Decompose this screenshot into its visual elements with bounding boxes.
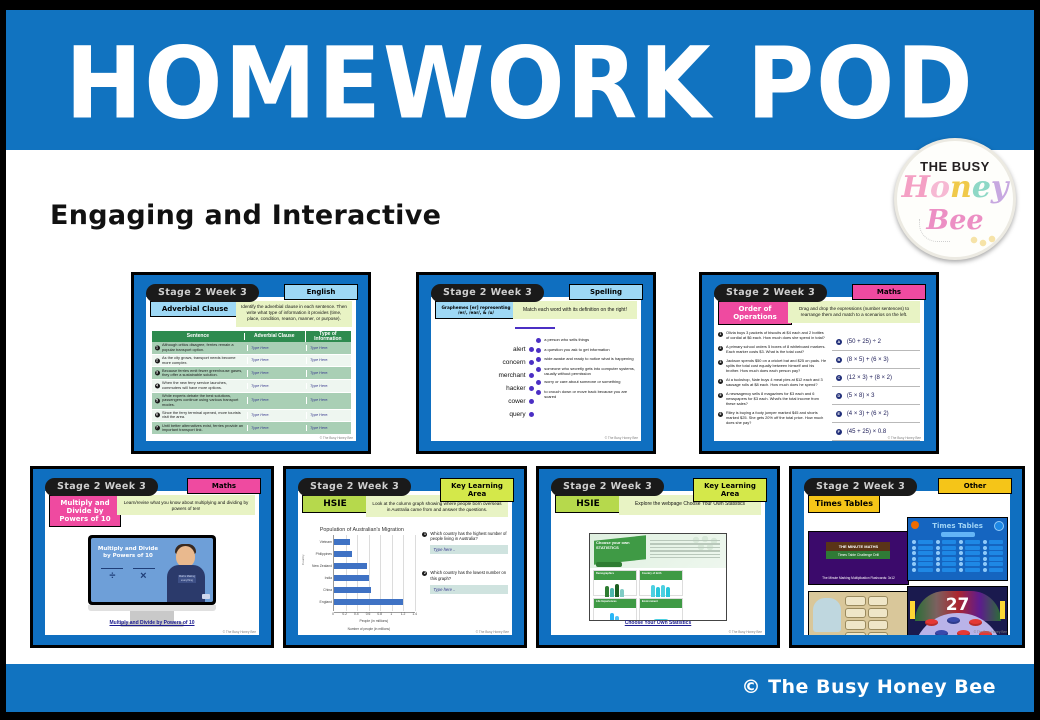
radio-icon[interactable]	[936, 568, 940, 572]
column-header-adverbial-clause: Adverbial Clause	[244, 333, 305, 340]
game-target-number: 27	[908, 595, 1007, 615]
slide-sheet: HSIE Look at the column graph showing wh…	[298, 491, 512, 635]
list-item: 2A primary school orders 5 boxes of 8 wh…	[718, 345, 827, 355]
x-tick: 1	[390, 612, 392, 616]
option-row[interactable]	[912, 546, 932, 550]
bullet-icon: 2	[718, 346, 723, 351]
logo-bee-text: Bee	[897, 205, 1013, 236]
tile-figures	[640, 580, 682, 598]
stage-week-pill: Stage 2 Week 3	[804, 478, 918, 496]
cell-sentence: 7Until better alternatives exist, ferrie…	[152, 423, 247, 434]
tile-figures	[594, 580, 636, 598]
draggable-expression[interactable]: E(4 × 3) + (6 × 2)	[832, 405, 920, 423]
card-inner: Stage 2 Week 3 Maths Multiply and Divide…	[37, 473, 267, 641]
slide-card-spelling[interactable]: Stage 2 Week 3 Spelling Graphemes [er] r…	[416, 272, 656, 454]
video-tile[interactable]: THE MINUTE MATHS Times Table Challenge D…	[808, 531, 909, 585]
web-tile-grid: Demographics Country of birth	[593, 570, 723, 621]
list-item[interactable]: to crouch down or move back because you …	[536, 389, 637, 399]
option-row[interactable]	[959, 540, 979, 544]
game-chip[interactable]	[957, 630, 970, 635]
cell-answer[interactable]: Type Here.	[247, 345, 306, 352]
bullet-icon: 4	[718, 379, 723, 384]
times-tables-right-column: Times Tables	[907, 517, 1006, 635]
option-row[interactable]	[936, 540, 956, 544]
instruction-text: Identify the adverbial clause in each se…	[236, 301, 352, 327]
footer-banner: © The Busy Honey Bee	[6, 664, 1034, 712]
stage-week-pill: Stage 2 Week 3	[431, 284, 545, 302]
radio-icon[interactable]	[936, 562, 940, 566]
option-column	[959, 540, 979, 574]
answer-card[interactable]	[845, 620, 866, 630]
radio-icon[interactable]	[983, 562, 987, 566]
brand-logo: THE BUSY Honey Bee	[894, 138, 1016, 260]
web-paragraph-lines	[650, 540, 720, 560]
slide-sheet: Multiply and Divide by Powers of 10 Lear…	[45, 491, 259, 635]
stage-week-pill: Stage 2 Week 3	[146, 284, 260, 302]
migration-bar-chart: Population of Australian's Migration Cou…	[303, 527, 421, 627]
list-item[interactable]: concern	[437, 356, 534, 369]
radio-icon[interactable]	[912, 551, 916, 555]
bullet-icon: C	[836, 375, 842, 381]
resource-link[interactable]: Multiply and Divide by Powers of 10	[45, 620, 259, 626]
divide-icon: ÷	[109, 570, 115, 582]
list-item[interactable]: a question you ask to get information	[536, 347, 637, 353]
list-item[interactable]: merchant	[437, 369, 534, 382]
page-title: HOMEWORK POD	[6, 14, 1034, 154]
video-sign: THE MINUTE MATHS Times Table Challenge D…	[826, 542, 890, 559]
option-row[interactable]	[983, 568, 1003, 572]
bar-label: Philippines	[316, 552, 332, 556]
option-row[interactable]	[936, 568, 956, 572]
option-row[interactable]	[959, 546, 979, 550]
cell-type[interactable]: Type Here.	[306, 370, 351, 377]
bullet-icon: D	[836, 393, 842, 399]
video-sign-sub: Times Table Challenge Drill	[826, 551, 890, 559]
table-header-row: Sentence Adverbial Clause Type of Inform…	[152, 331, 351, 342]
list-item[interactable]: query	[437, 408, 534, 421]
bullet-icon: 3	[718, 360, 723, 365]
list-item: 5A newsagency sells 8 magazines for $3 e…	[718, 392, 827, 406]
answer-card[interactable]	[868, 620, 889, 630]
match-dot-icon[interactable]	[536, 367, 541, 372]
list-item: 6Riley is buying a footy jumper marked $…	[718, 411, 827, 425]
cell-type[interactable]: Type Here.	[306, 357, 351, 364]
times-tables-left-column: THE MINUTE MATHS Times Table Challenge D…	[808, 531, 907, 635]
radio-icon[interactable]	[959, 540, 963, 544]
credit-text: © The Busy Honey Bee	[974, 630, 1007, 634]
bar-label: China	[323, 588, 332, 592]
radio-icon[interactable]	[936, 540, 940, 544]
match-dot-icon[interactable]	[536, 380, 541, 385]
instruction-text: Learn/revise what you know about multipl…	[117, 495, 255, 515]
logo-honeycomb-icon	[969, 235, 999, 249]
option-row[interactable]	[983, 540, 1003, 544]
match-dot-icon[interactable]	[536, 390, 541, 395]
match-dot-icon[interactable]	[529, 399, 534, 404]
radio-icon[interactable]	[936, 551, 940, 555]
settings-icon[interactable]	[994, 521, 1004, 531]
cell-answer[interactable]: Type Here.	[247, 412, 306, 419]
topic-label: Multiply and Divide by Powers of 10	[49, 495, 121, 527]
chart-ylabel: Country	[301, 554, 305, 565]
shirt-text: Maths Making everything	[178, 575, 196, 583]
slide-card-hsie-graph[interactable]: Stage 2 Week 3 Key Learning Area HSIE Lo…	[283, 466, 527, 648]
radio-icon[interactable]	[936, 557, 940, 561]
cell-answer[interactable]: Type Here.	[247, 425, 306, 432]
topic-label: Adverbial Clause	[150, 301, 240, 317]
adverbial-clause-table: Sentence Adverbial Clause Type of Inform…	[152, 331, 351, 435]
cell-sentence: 3Because ferries emit fewer greenhouse g…	[152, 368, 247, 379]
bullet-icon: F	[836, 429, 842, 435]
x-tick: 1.2	[401, 612, 406, 616]
cell-answer[interactable]: Type Here.	[247, 357, 306, 364]
subject-tag-kla: Key Learning Area	[440, 478, 514, 502]
bar-label: India	[325, 576, 332, 580]
slide-sheet: Order of Operations Drag and drop the ex…	[714, 297, 924, 441]
answer-card[interactable]	[868, 608, 889, 618]
bar-item: New Zealand	[334, 563, 415, 569]
list-item[interactable]: worry or care about someone or something	[536, 379, 637, 385]
tile-title: Life Experiences	[594, 599, 636, 608]
credit-text: © The Busy Honey Bee	[320, 436, 353, 440]
bullet-icon: 5	[718, 393, 723, 398]
topic-label: Times Tables	[808, 495, 880, 513]
radio-icon[interactable]	[983, 551, 987, 555]
option-row[interactable]	[912, 551, 932, 555]
cell-type[interactable]: Type Here.	[306, 425, 351, 432]
instruction-text: Match each word with its definition on t…	[513, 301, 637, 319]
match-dot-icon[interactable]	[529, 373, 534, 378]
answer-card[interactable]	[845, 632, 866, 635]
app-option-columns	[908, 537, 1007, 577]
cell-sentence: 4When the new ferry service launches, co…	[152, 380, 247, 391]
sphinx-icon	[813, 598, 841, 632]
bullet-icon: E	[836, 411, 842, 417]
x-tick: 0.2	[342, 612, 347, 616]
row-bullet-icon: 4	[155, 383, 160, 388]
radio-icon[interactable]	[983, 557, 987, 561]
resource-link[interactable]: Choose Your Own Statistics	[551, 620, 765, 626]
radio-icon[interactable]	[959, 557, 963, 561]
match-dot-icon[interactable]	[529, 360, 534, 365]
tile-title: Environment	[640, 599, 682, 608]
game-chip[interactable]	[925, 619, 938, 626]
spelling-word-list: alert concern merchant hacker cower quer…	[437, 343, 534, 421]
table-row[interactable]: 7Until better alternatives exist, ferrie…	[152, 422, 351, 435]
slide-sheet: Adverbial Clause Identify the adverbial …	[146, 297, 356, 441]
topic-label: Graphemes [er] representing /er/, /ear/,…	[435, 301, 517, 319]
answer-input[interactable]: Type here ..	[430, 585, 508, 594]
table-row[interactable]: 3Because ferries emit fewer greenhouse g…	[152, 367, 351, 380]
table-row[interactable]: 4When the new ferry service launches, co…	[152, 380, 351, 393]
list-item[interactable]: hacker	[437, 382, 534, 395]
option-row[interactable]	[936, 557, 956, 561]
row-bullet-icon: 7	[155, 426, 160, 431]
game-chip[interactable]	[935, 630, 948, 635]
webpage-screenshot[interactable]: Choose your own STATISTICS Demographics	[589, 533, 727, 621]
egypt-game-tile[interactable]	[808, 591, 909, 635]
list-item[interactable]: cower	[437, 395, 534, 408]
option-row[interactable]	[959, 557, 979, 561]
match-dot-icon[interactable]	[536, 357, 541, 362]
game-chip[interactable]	[947, 617, 960, 624]
bar-item: Vietnam	[334, 539, 415, 545]
list-item[interactable]: someone who secretly gets into computer …	[536, 366, 637, 376]
video-frame: Multiply and Divide by Powers of 10 ÷ ×	[91, 538, 213, 602]
stage-week-pill: Stage 2 Week 3	[551, 478, 665, 496]
list-item[interactable]: wide awake and ready to notice what is h…	[536, 356, 637, 362]
table-row[interactable]: 1Although critics disagree, ferries rema…	[152, 342, 351, 355]
chart-title: Population of Australian's Migration	[303, 527, 421, 533]
radio-icon[interactable]	[912, 568, 916, 572]
video-operators: ÷ ×	[97, 570, 159, 582]
monitor-screen: Multiply and Divide by Powers of 10 ÷ ×	[88, 535, 216, 605]
answer-card[interactable]	[845, 596, 866, 606]
bullet-icon: B	[836, 357, 842, 363]
radio-icon[interactable]	[983, 546, 987, 550]
bar-label: Vietnam	[320, 540, 332, 544]
x-tick: 0.6	[366, 612, 371, 616]
option-row[interactable]	[983, 562, 1003, 566]
topic-label: HSIE	[302, 495, 368, 513]
cell-answer[interactable]: Type Here.	[247, 383, 306, 390]
list-item: 4At a tuckshop, Nate buys 4 meat pies at…	[718, 378, 827, 388]
subtitle: Engaging and Interactive	[50, 200, 441, 231]
maths-scenario-list: 1Olivia buys 3 packets of biscuits at $4…	[718, 331, 827, 430]
body-shape: Maths Making everything	[167, 565, 205, 602]
chart-plot-area: Vietnam Philippines New Zealand Ind	[333, 535, 415, 611]
card-inner: Stage 2 Week 3 Key Learning Area HSIE Lo…	[290, 473, 520, 641]
slide-sheet: Times Tables THE MINUTE MATHS Times Tabl…	[804, 491, 1010, 635]
option-row[interactable]	[983, 557, 1003, 561]
cell-type[interactable]: Type Here.	[306, 397, 351, 404]
bullet-icon: 2	[422, 571, 427, 576]
cell-type[interactable]: Type Here.	[306, 412, 351, 419]
multiply-icon: ×	[140, 570, 146, 582]
option-row[interactable]	[912, 557, 932, 561]
cell-answer[interactable]: Type Here.	[247, 370, 306, 377]
radio-icon[interactable]	[959, 551, 963, 555]
option-column	[983, 540, 1003, 574]
list-item: 2Which country has the lowest number on …	[422, 570, 508, 580]
bar-item: England	[334, 599, 415, 605]
web-tile[interactable]: Environment	[639, 598, 683, 621]
card-inner: Stage 2 Week 3 Spelling Graphemes [er] r…	[423, 279, 649, 447]
subject-tag-other: Other	[938, 478, 1012, 494]
slide-sheet: Graphemes [er] representing /er/, /ear/,…	[431, 297, 641, 441]
bar-label: New Zealand	[312, 564, 332, 568]
header-banner: HOMEWORK POD	[6, 10, 1034, 150]
slide-sheet: HSIE Explore the webpage Choose Your Own…	[551, 491, 765, 635]
credit-text: © The Busy Honey Bee	[729, 630, 762, 634]
table-row[interactable]: 6Since the ferry terminal opened, more t…	[152, 410, 351, 423]
stage-week-pill: Stage 2 Week 3	[714, 284, 828, 302]
radio-icon[interactable]	[959, 568, 963, 572]
credit-text: © The Busy Honey Bee	[223, 630, 256, 634]
match-dot-icon[interactable]	[529, 386, 534, 391]
radio-icon[interactable]	[936, 546, 940, 550]
row-bullet-icon: 3	[155, 371, 160, 376]
slide-card-maths-order[interactable]: Stage 2 Week 3 Maths Order of Operations…	[699, 272, 939, 454]
spelling-definition-list: a person who sells things a question you…	[536, 337, 637, 402]
option-column	[912, 540, 932, 574]
x-tick: 0.8	[377, 612, 382, 616]
radio-icon[interactable]	[959, 562, 963, 566]
bullet-icon: 1	[718, 332, 723, 337]
radio-icon[interactable]	[983, 568, 987, 572]
draggable-expression[interactable]: C(12 × 3) + (8 × 2)	[832, 369, 920, 387]
presenter-figure: Maths Making everything	[165, 544, 207, 602]
cell-sentence: 1Although critics disagree, ferries rema…	[152, 342, 247, 353]
video-title: Multiply and Divide by Powers of 10	[97, 546, 159, 560]
option-row[interactable]	[912, 540, 932, 544]
option-row[interactable]	[959, 551, 979, 555]
video-caption: The Minute Marking Multiplication Flashc…	[809, 576, 908, 580]
topic-label: HSIE	[555, 495, 621, 513]
chart-xlabel: People (in millions)	[327, 619, 421, 623]
bullet-icon: 6	[718, 412, 723, 417]
video-sign-title: THE MINUTE MATHS	[826, 542, 890, 551]
cell-sentence: 2As the city grows, transport needs beco…	[152, 355, 247, 366]
answer-card[interactable]	[868, 596, 889, 606]
game-chip[interactable]	[969, 619, 982, 626]
list-item: 1Olivia buys 3 packets of biscuits at $4…	[718, 331, 827, 341]
bar-label: England	[320, 600, 332, 604]
answer-card[interactable]	[845, 608, 866, 618]
option-row[interactable]	[936, 551, 956, 555]
x-tick: 1.4	[412, 612, 417, 616]
web-tile[interactable]: Country of birth	[639, 570, 683, 596]
times-tables-app-tile[interactable]: Times Tables	[907, 517, 1008, 581]
row-bullet-icon: 6	[155, 413, 160, 418]
match-dot-icon[interactable]	[536, 348, 541, 353]
table-row[interactable]: 2As the city grows, transport needs beco…	[152, 355, 351, 368]
radio-icon[interactable]	[959, 546, 963, 550]
web-hero-title: Choose your own STATISTICS	[596, 540, 644, 550]
subject-tag-kla: Key Learning Area	[693, 478, 767, 502]
cell-sentence: 5While experts debate the best solutions…	[152, 393, 247, 409]
logo-swirl-icon	[919, 219, 950, 242]
slide-card-hsie-web[interactable]: Stage 2 Week 3 Key Learning Area HSIE Ex…	[536, 466, 780, 648]
row-bullet-icon: 2	[155, 358, 160, 363]
match-dot-icon[interactable]	[529, 347, 534, 352]
option-row[interactable]	[983, 551, 1003, 555]
app-title: Times Tables	[908, 518, 1007, 530]
tile-title: Demographics	[594, 571, 636, 580]
list-item[interactable]: a person who sells things	[536, 337, 637, 343]
copyright-text: © The Busy Honey Bee	[741, 676, 996, 698]
bar-item: India	[334, 575, 415, 581]
cell-type[interactable]: Type Here.	[306, 345, 351, 352]
row-bullet-icon: 5	[155, 398, 160, 403]
web-tile[interactable]: Life Experiences	[593, 598, 637, 621]
option-row[interactable]	[936, 562, 956, 566]
subject-tag-spelling: Spelling	[569, 284, 643, 300]
card-inner: Stage 2 Week 3 English Adverbial Clause …	[138, 279, 364, 447]
draggable-expression[interactable]: B(8 × 5) + (6 × 3)	[832, 351, 920, 369]
subject-tag-maths: Maths	[187, 478, 261, 494]
radio-icon[interactable]	[912, 562, 916, 566]
bar-item: China	[334, 587, 415, 593]
credit-text: © The Busy Honey Bee	[476, 630, 509, 634]
option-row[interactable]	[912, 568, 932, 572]
column-header-type: Type of Information	[305, 331, 351, 342]
column-header-sentence: Sentence	[152, 333, 244, 340]
web-tile[interactable]: Demographics	[593, 570, 637, 596]
answer-card-grid	[845, 596, 905, 635]
tile-title: Country of birth	[640, 571, 682, 580]
option-row[interactable]	[912, 562, 932, 566]
table-row[interactable]: 5While experts debate the best solutions…	[152, 393, 351, 410]
subject-tag-english: English	[284, 284, 358, 300]
chart-note: Number of people (in millions)	[317, 627, 421, 631]
card-inner: Stage 2 Week 3 Key Learning Area HSIE Ex…	[543, 473, 773, 641]
bullet-icon: A	[836, 339, 842, 345]
row-bullet-icon: 1	[155, 345, 160, 350]
match-dot-icon[interactable]	[536, 338, 541, 343]
poster-page: HOMEWORK POD THE BUSY Honey Bee Engaging…	[0, 0, 1040, 720]
stage-week-pill: Stage 2 Week 3	[298, 478, 412, 496]
cell-sentence: 6Since the ferry terminal opened, more t…	[152, 410, 247, 421]
instruction-text: Drag and drop the expressions (number se…	[788, 301, 920, 323]
video-thumbnail[interactable]: Multiply and Divide by Powers of 10 ÷ ×	[88, 535, 216, 627]
slide-card-maths-powers[interactable]: Stage 2 Week 3 Maths Multiply and Divide…	[30, 466, 274, 648]
subject-tag-maths: Maths	[852, 284, 926, 300]
cell-answer[interactable]: Type Here.	[247, 397, 306, 404]
radio-icon[interactable]	[912, 546, 916, 550]
x-axis-ticks: 0 0.2 0.4 0.6 0.8 1 1.2 1.4	[333, 611, 415, 619]
credit-text: © The Busy Honey Bee	[605, 436, 638, 440]
answer-card[interactable]	[868, 632, 889, 635]
option-row[interactable]	[959, 562, 979, 566]
option-row[interactable]	[959, 568, 979, 572]
list-item[interactable]: alert	[437, 343, 534, 356]
draggable-expression[interactable]: A(50 + 25) ÷ 2	[832, 333, 920, 351]
match-dot-icon[interactable]	[529, 412, 534, 417]
card-inner: Stage 2 Week 3 Other Times Tables THE MI…	[796, 473, 1018, 641]
draggable-expression[interactable]: D(5 × 8) × 3	[832, 387, 920, 405]
radio-icon[interactable]	[912, 540, 916, 544]
divider-line	[515, 327, 555, 329]
topic-label: Order of Operations	[718, 301, 792, 325]
x-tick: 0.4	[354, 612, 359, 616]
chip-game-tile[interactable]: 27	[907, 586, 1008, 635]
maths-expression-list: A(50 + 25) ÷ 2 B(8 × 5) + (6 × 3) C(12 ×…	[832, 333, 920, 441]
answer-input[interactable]: Type here ..	[430, 545, 508, 554]
slide-card-times-tables[interactable]: Stage 2 Week 3 Other Times Tables THE MI…	[789, 466, 1025, 648]
web-cta-button[interactable]	[596, 562, 622, 567]
radio-icon[interactable]	[983, 540, 987, 544]
radio-icon[interactable]	[912, 557, 916, 561]
head-shape	[176, 546, 195, 567]
option-column	[936, 540, 956, 574]
stage-week-pill: Stage 2 Week 3	[45, 478, 159, 496]
credit-text: © The Busy Honey Bee	[888, 436, 921, 440]
list-item: 3Jackson spends $50 on a cricket bat and…	[718, 359, 827, 373]
hsie-question-list: 1Which country has the highest number of…	[422, 531, 508, 610]
card-inner: Stage 2 Week 3 Maths Order of Operations…	[706, 279, 932, 447]
x-tick: 0	[332, 612, 334, 616]
logo-honey-text: Honey	[897, 169, 1013, 207]
video-badge-icon	[202, 594, 210, 599]
slide-card-english[interactable]: Stage 2 Week 3 English Adverbial Clause …	[131, 272, 371, 454]
bar-item: Philippines	[334, 551, 415, 557]
option-row[interactable]	[936, 546, 956, 550]
list-item: 1Which country has the highest number of…	[422, 531, 508, 541]
cell-type[interactable]: Type Here.	[306, 383, 351, 390]
option-row[interactable]	[983, 546, 1003, 550]
bullet-icon: 1	[422, 532, 427, 537]
